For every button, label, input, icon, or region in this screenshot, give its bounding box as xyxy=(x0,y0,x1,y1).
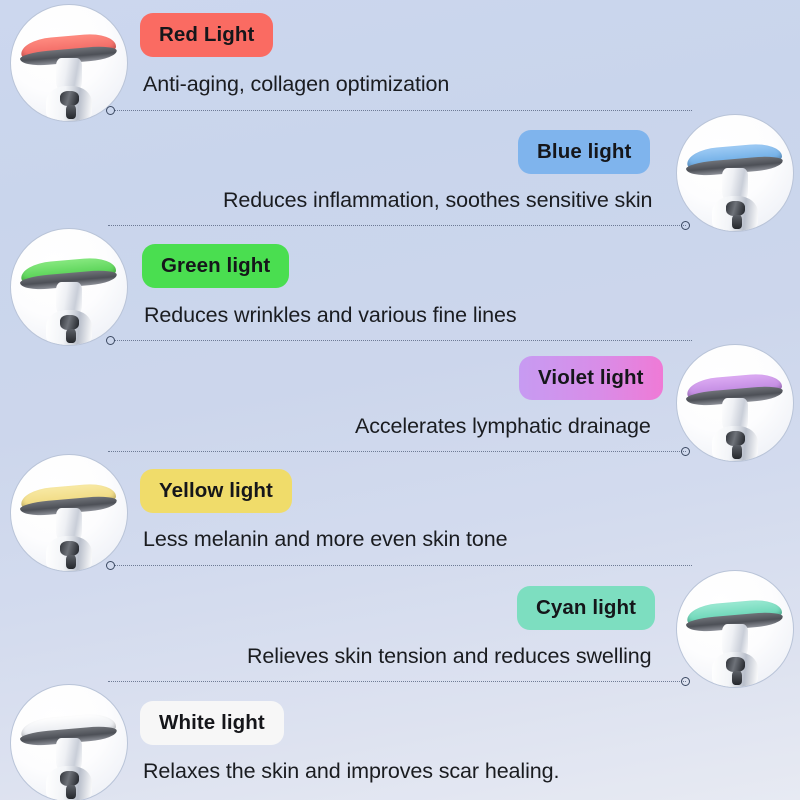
description-green-light: Reduces wrinkles and various fine lines xyxy=(144,303,517,328)
connector-line-yellow xyxy=(114,565,692,566)
connector-dot-violet xyxy=(681,447,690,456)
device-gloss xyxy=(732,215,742,229)
device-photo-blue xyxy=(676,114,794,232)
device-gloss xyxy=(732,445,742,459)
device-photo-green xyxy=(10,228,128,346)
device-photo-yellow xyxy=(10,454,128,572)
device-chrome-ring xyxy=(726,431,746,446)
connector-dot-blue xyxy=(681,221,690,230)
badge-white-light[interactable]: White light xyxy=(140,701,284,745)
badge-blue-light[interactable]: Blue light xyxy=(518,130,650,174)
badge-violet-light[interactable]: Violet light xyxy=(519,356,663,400)
device-chrome-ring xyxy=(60,91,80,106)
device-chrome-ring xyxy=(726,201,746,216)
badge-red-light[interactable]: Red Light xyxy=(140,13,273,57)
description-yellow-light: Less melanin and more even skin tone xyxy=(143,527,508,552)
device-gloss xyxy=(732,671,742,685)
led-therapy-infographic: Red Light Anti-aging, collagen optimizat… xyxy=(0,0,800,800)
device-gloss xyxy=(66,555,76,569)
device-photo-white xyxy=(10,684,128,800)
connector-dot-yellow xyxy=(106,561,115,570)
device-chrome-ring xyxy=(60,541,80,556)
device-chrome-ring xyxy=(60,315,80,330)
device-chrome-ring xyxy=(726,657,746,672)
badge-green-light[interactable]: Green light xyxy=(142,244,289,288)
connector-dot-green xyxy=(106,336,115,345)
description-white-light: Relaxes the skin and improves scar heali… xyxy=(143,759,559,784)
connector-line-violet xyxy=(108,451,686,452)
device-photo-red xyxy=(10,4,128,122)
description-red-light: Anti-aging, collagen optimization xyxy=(143,72,449,97)
description-blue-light: Reduces inflammation, soothes sensitive … xyxy=(223,188,652,213)
device-photo-violet xyxy=(676,344,794,462)
badge-cyan-light[interactable]: Cyan light xyxy=(517,586,655,630)
connector-line-red xyxy=(114,110,692,111)
badge-yellow-light[interactable]: Yellow light xyxy=(140,469,292,513)
device-gloss xyxy=(66,329,76,343)
device-gloss xyxy=(66,105,76,119)
connector-dot-cyan xyxy=(681,677,690,686)
description-violet-light: Accelerates lymphatic drainage xyxy=(355,414,651,439)
connector-line-blue xyxy=(108,225,686,226)
description-cyan-light: Relieves skin tension and reduces swelli… xyxy=(247,644,652,669)
device-gloss xyxy=(66,785,76,799)
connector-line-cyan xyxy=(108,681,686,682)
device-chrome-ring xyxy=(60,771,80,786)
device-photo-cyan xyxy=(676,570,794,688)
connector-line-green xyxy=(114,340,692,341)
connector-dot-red xyxy=(106,106,115,115)
